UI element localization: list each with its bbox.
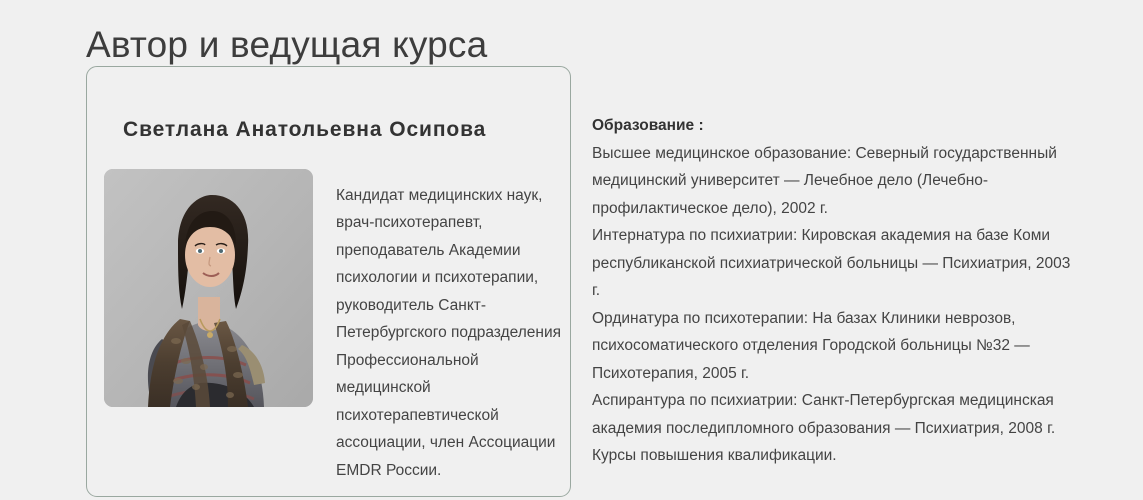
- education-heading: Образование :: [592, 112, 1082, 140]
- author-profile-card: Светлана Анатольевна Осипова: [86, 66, 571, 497]
- education-entry: Ординатура по психотерапии: На базах Кли…: [592, 305, 1082, 388]
- education-entry: Высшее медицинское образование: Северный…: [592, 140, 1082, 223]
- author-photo: [104, 169, 313, 407]
- education-entry: Интернатура по психиатрии: Кировская ака…: [592, 222, 1082, 305]
- education-section: Образование : Высшее медицинское образов…: [592, 112, 1082, 470]
- author-name: Светлана Анатольевна Осипова: [123, 118, 486, 142]
- page-title: Автор и ведущая курса: [86, 22, 487, 68]
- author-bio: Кандидат медицинских наук, врач-психотер…: [336, 182, 568, 485]
- education-entry: Курсы повышения квалификации.: [592, 442, 1082, 470]
- education-entry: Аспирантура по психиатрии: Санкт-Петербу…: [592, 387, 1082, 442]
- card-body: Кандидат медицинских наук, врач-психотер…: [104, 169, 560, 488]
